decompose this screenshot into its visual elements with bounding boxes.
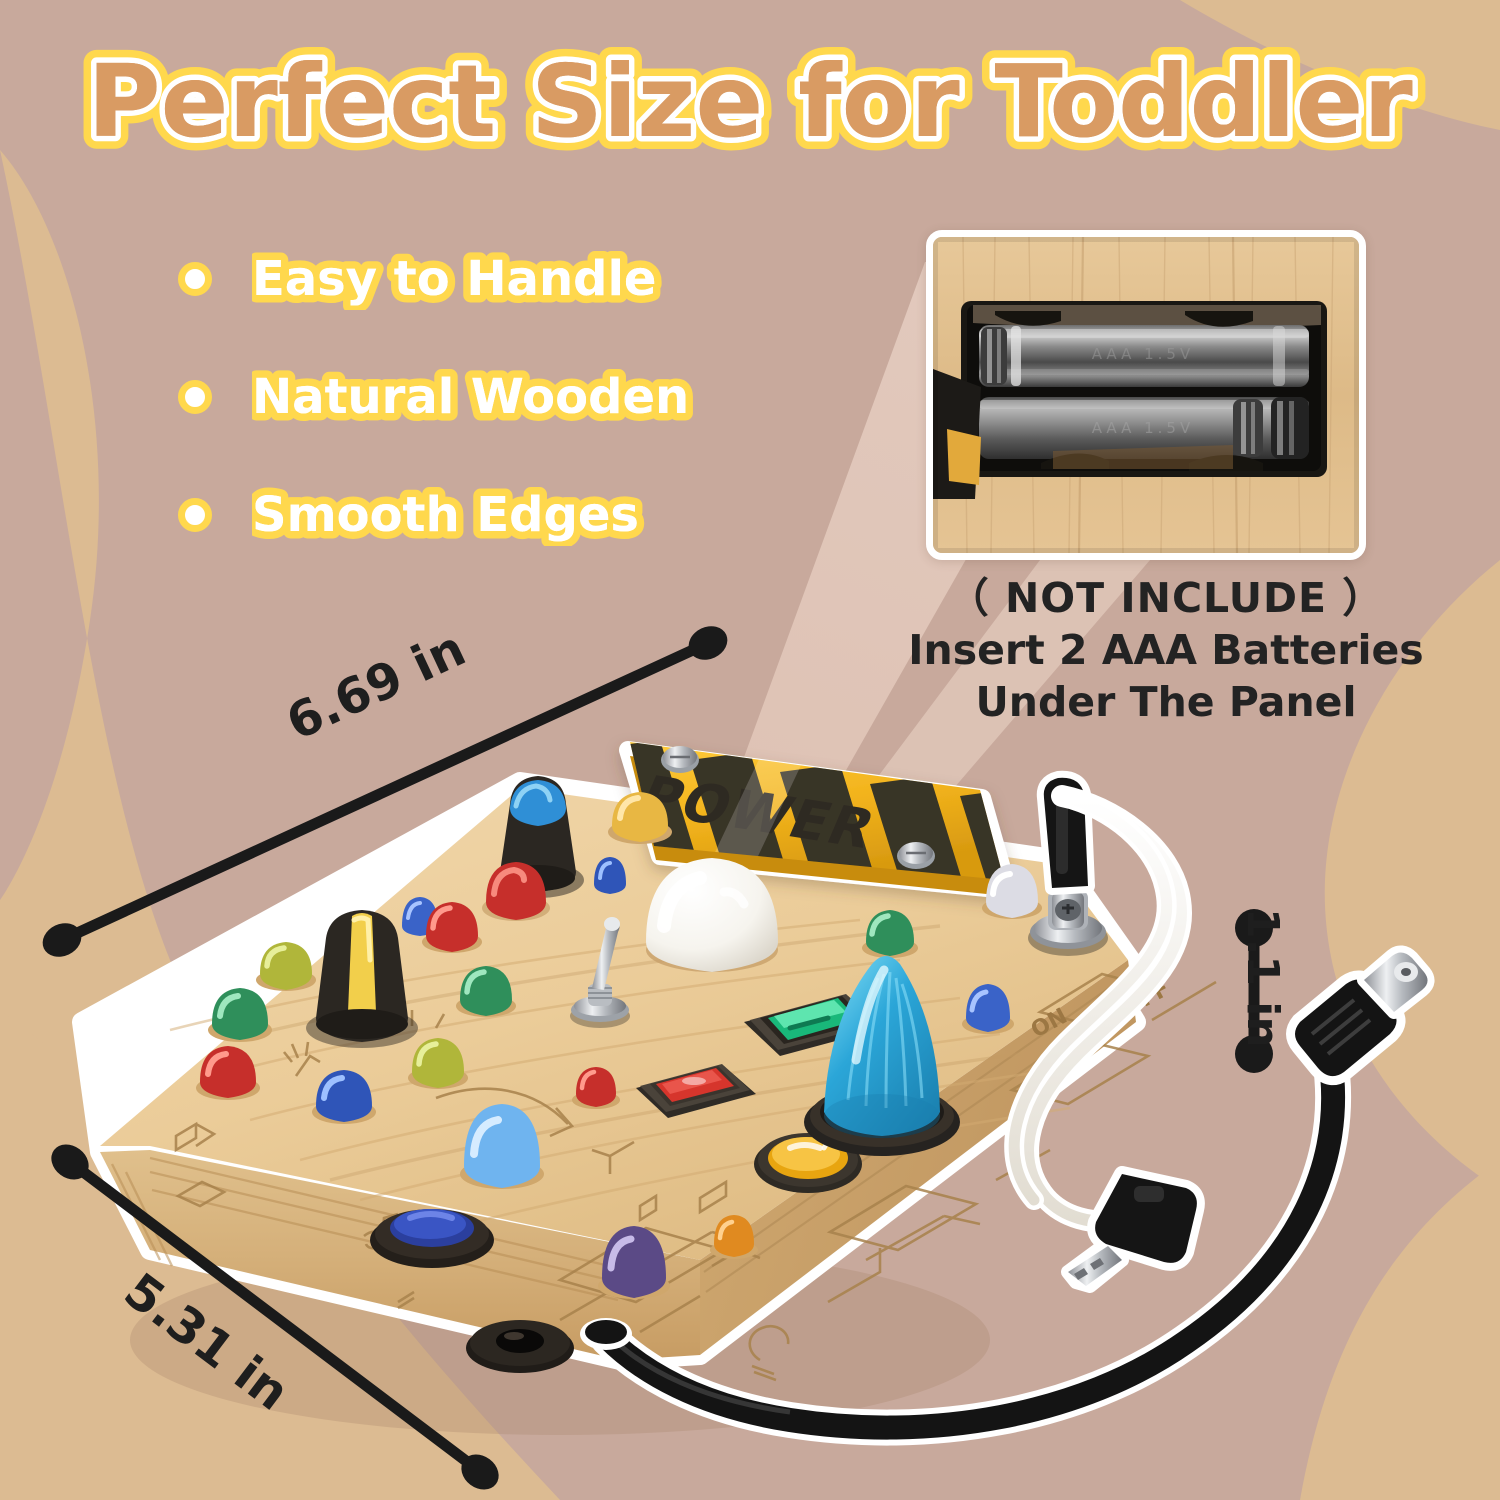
infographic-canvas: Perfect Size for Toddler Perfect Size fo… xyxy=(0,0,1500,1500)
dimension-overlay xyxy=(0,0,1500,1500)
dimension-label-height: 1.1 in xyxy=(1237,908,1288,1048)
dimension-line-depth xyxy=(44,1137,505,1497)
